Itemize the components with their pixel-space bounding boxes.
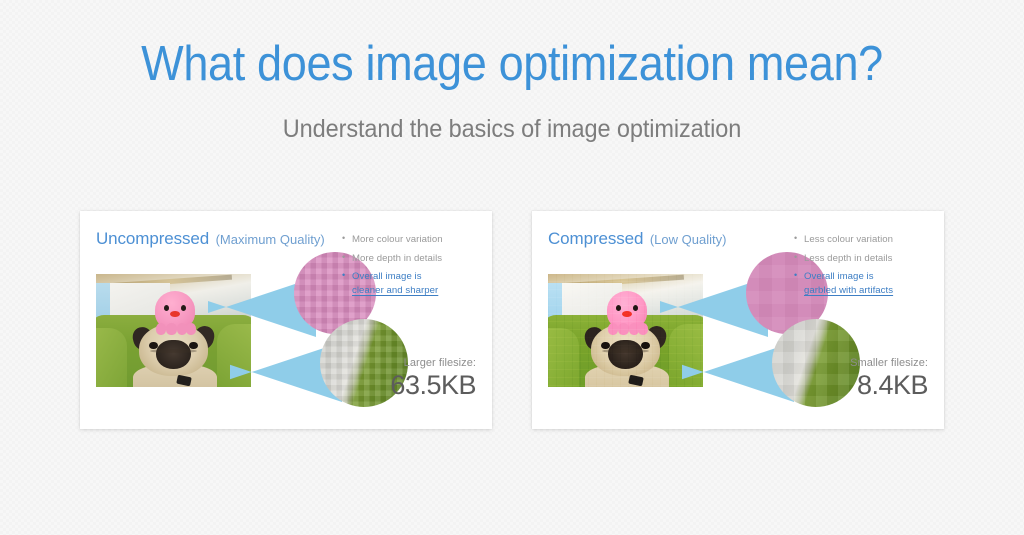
filesize-block-uncompressed: Larger filesize: 63.5KB — [390, 357, 476, 401]
filesize-value: 63.5KB — [390, 370, 476, 401]
sample-photo-uncompressed — [96, 274, 251, 387]
filesize-label: Smaller filesize: — [850, 357, 928, 369]
bullet-item: Less colour variation — [794, 233, 940, 247]
page-title: What does image optimization mean? — [41, 38, 983, 91]
slide-header: What does image optimization mean? Under… — [0, 0, 1024, 144]
sample-photo-compressed — [548, 274, 703, 387]
card-heading-main: Compressed — [548, 229, 643, 248]
card-uncompressed: Uncompressed (Maximum Quality) — [80, 211, 492, 429]
magnifier-circle-green — [772, 319, 860, 407]
card-heading-uncompressed: Uncompressed (Maximum Quality) — [96, 229, 325, 249]
comparison-cards: Uncompressed (Maximum Quality) — [0, 211, 1024, 429]
card-heading-main: Uncompressed — [96, 229, 209, 248]
filesize-label: Larger filesize: — [390, 357, 476, 369]
card-heading-sub: (Low Quality) — [650, 232, 727, 247]
photo-pug-muzzle — [156, 340, 190, 369]
octopus-leg — [156, 323, 166, 335]
bullet-item-link[interactable]: Overall image is cleaner and sharper — [342, 270, 488, 297]
feature-bullets-compressed: Less colour variation Less depth in deta… — [794, 233, 940, 302]
filesize-value: 8.4KB — [850, 370, 928, 401]
bullet-link-line1: Overall image is — [352, 271, 422, 282]
filesize-block-compressed: Smaller filesize: 8.4KB — [850, 357, 928, 401]
card-compressed: Compressed (Low Quality) — [532, 211, 944, 429]
bullet-link-line2: garbled with artifacts — [804, 285, 893, 296]
feature-bullets-uncompressed: More colour variation More depth in deta… — [342, 233, 488, 302]
bullet-item: More depth in details — [342, 252, 488, 266]
photo-sofa-arm-left — [96, 328, 127, 387]
photo-pug-wrinkle — [150, 349, 197, 354]
bullet-item: Less depth in details — [794, 252, 940, 266]
octopus-leg — [166, 323, 176, 335]
octopus-eye — [181, 305, 186, 311]
card-heading-compressed: Compressed (Low Quality) — [548, 229, 726, 249]
octopus-beak — [170, 311, 180, 317]
photo-pug-eye-right — [189, 342, 198, 349]
photo-octopus-plush — [155, 291, 195, 329]
bullet-item: More colour variation — [342, 233, 488, 247]
bullet-link-line2: cleaner and sharper — [352, 285, 438, 296]
bullet-item-link[interactable]: Overall image is garbled with artifacts — [794, 270, 940, 297]
photo-pug-eye-left — [149, 342, 158, 349]
page-subtitle: Understand the basics of image optimizat… — [31, 115, 994, 144]
octopus-eye — [164, 305, 169, 311]
bullet-link-line1: Overall image is — [804, 271, 874, 282]
card-heading-sub: (Maximum Quality) — [216, 232, 325, 247]
octopus-leg — [186, 323, 196, 335]
compression-artifact-overlay — [548, 274, 703, 387]
magnifier-pixels-green — [772, 319, 860, 407]
